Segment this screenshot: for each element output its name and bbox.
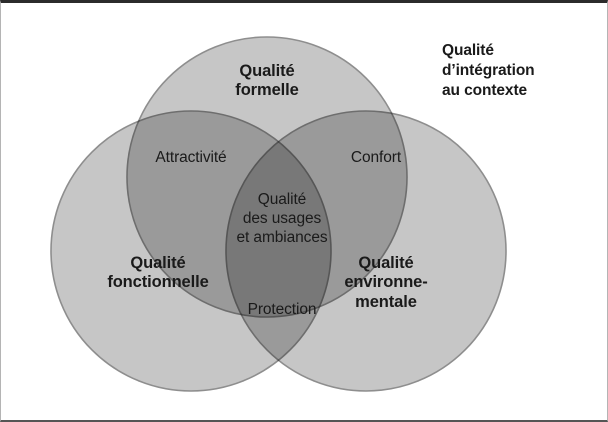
figure-frame: Qualité formelle Qualité fonctionnelle Q… [0,0,608,422]
venn-diagram [1,3,607,420]
venn-circle-group [51,37,506,391]
circle-qualite-environnementale[interactable] [226,111,506,391]
